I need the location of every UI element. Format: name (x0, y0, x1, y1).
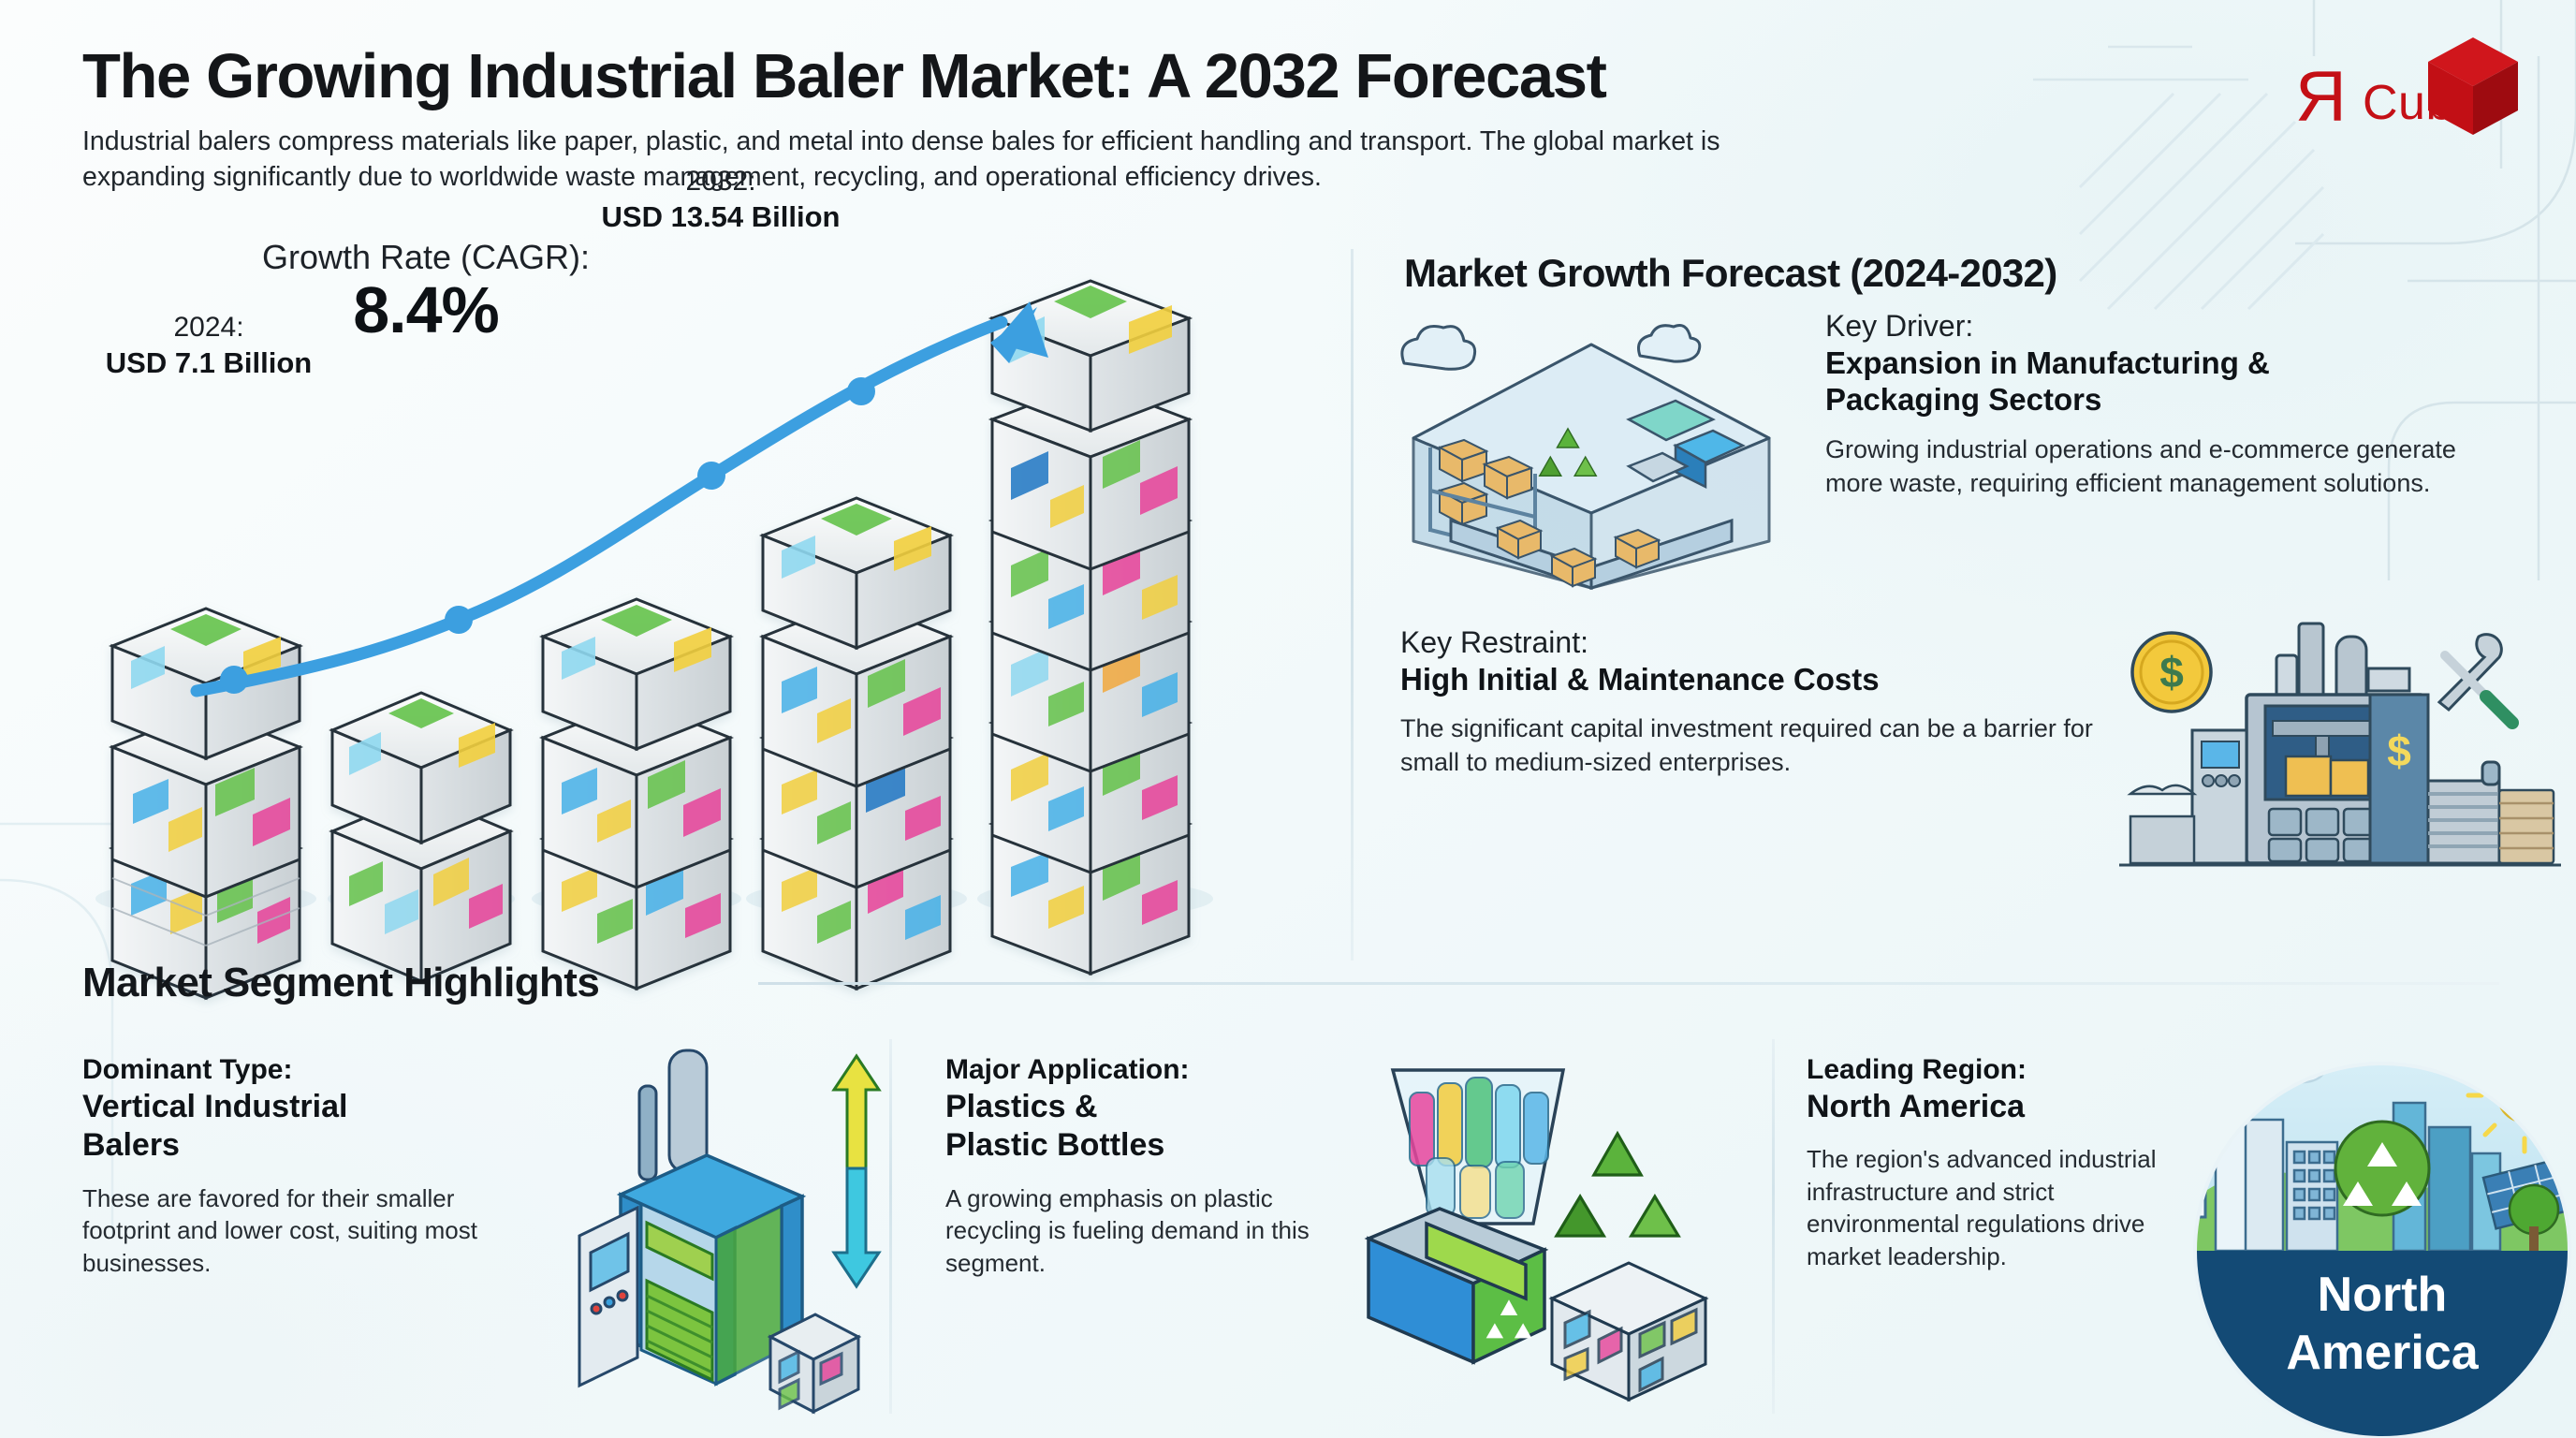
segment-2-lead: Major Application: (945, 1053, 1339, 1088)
wrench-screwdriver-icon (2439, 635, 2512, 723)
segment-leading-region: Leading Region: North America The region… (1807, 1053, 2200, 1272)
segments-title: Market Segment Highlights (82, 960, 599, 1006)
vertical-divider-main (1351, 249, 1354, 961)
badge-label-line1: North (2318, 1268, 2448, 1322)
page-title: The Growing Industrial Baler Market: A 2… (82, 45, 2142, 108)
north-america-green-city-badge: North America (2195, 1030, 2569, 1438)
chart-label-2032-year: 2032: (580, 165, 861, 199)
red-3d-cube-icon (2421, 34, 2525, 139)
key-driver-block: Key Driver: Expansion in Manufacturing &… (1825, 309, 2509, 501)
page-subtitle: Industrial balers compress materials lik… (82, 125, 1833, 195)
segment-major-application: Major Application: Plastics & Plastic Bo… (945, 1053, 1339, 1279)
segment-2-heading: Plastics & Plastic Bottles (945, 1088, 1339, 1166)
svg-text:$: $ (2387, 726, 2411, 775)
market-growth-forecast-panel: Market Growth Forecast (2024-2032) (1404, 251, 2527, 962)
baler-factory-cost-illustration: $ (2115, 616, 2565, 897)
badge-label-line2: America (2286, 1326, 2479, 1380)
warehouse-recycling-facility-illustration (1395, 307, 1788, 588)
brand-logo[interactable]: R Cube (2290, 34, 2533, 146)
segment-1-body: These are favored for their smaller foot… (82, 1182, 485, 1280)
market-growth-bale-chart: 2024: USD 7.1 Billion 2032: USD 13.54 Bi… (56, 253, 1348, 955)
key-driver-body: Growing industrial operations and e-comm… (1825, 433, 2509, 501)
key-driver-lead: Key Driver: (1825, 309, 2509, 345)
key-restraint-heading: High Initial & Maintenance Costs (1400, 661, 2112, 698)
dollar-coin-icon: $ (2132, 633, 2211, 712)
segment-1-lead: Dominant Type: (82, 1053, 485, 1088)
key-restraint-body: The significant capital investment requi… (1400, 712, 2112, 780)
vertical-baler-machine-illustration (529, 1037, 875, 1421)
key-restraint-block: Key Restraint: High Initial & Maintenanc… (1400, 625, 2112, 780)
infographic-canvas: The Growing Industrial Baler Market: A 2… (0, 0, 2576, 1438)
header: The Growing Industrial Baler Market: A 2… (82, 45, 2142, 195)
right-panel-title: Market Growth Forecast (2024-2032) (1404, 251, 2527, 296)
segment-3-heading: North America (1807, 1088, 2200, 1126)
segment-3-body: The region's advanced industrial infrast… (1807, 1143, 2200, 1272)
recycle-icon (1557, 1134, 1678, 1236)
up-down-arrows-icon (834, 1056, 879, 1286)
vertical-divider-segment-1 (889, 1039, 892, 1414)
segment-2-body: A growing emphasis on plastic recycling … (945, 1182, 1339, 1280)
key-restraint-lead: Key Restraint: (1400, 625, 2112, 661)
horizontal-divider-segments (758, 982, 2499, 985)
segment-1-heading: Vertical Industrial Balers (82, 1088, 485, 1166)
vertical-divider-segment-2 (1772, 1039, 1775, 1414)
bale-stacks-and-trend (56, 253, 1348, 955)
plastic-bottle-recycling-illustration (1348, 1025, 1741, 1400)
logo-mirrored-r: R (2295, 62, 2347, 133)
key-driver-heading: Expansion in Manufacturing & Packaging S… (1825, 345, 2509, 418)
chart-label-2032: 2032: USD 13.54 Billion (580, 165, 861, 234)
segment-3-lead: Leading Region: (1807, 1053, 2200, 1088)
svg-text:$: $ (2159, 648, 2184, 697)
chart-label-2032-value: USD 13.54 Billion (580, 199, 861, 235)
segment-dominant-type: Dominant Type: Vertical Industrial Baler… (82, 1053, 485, 1279)
